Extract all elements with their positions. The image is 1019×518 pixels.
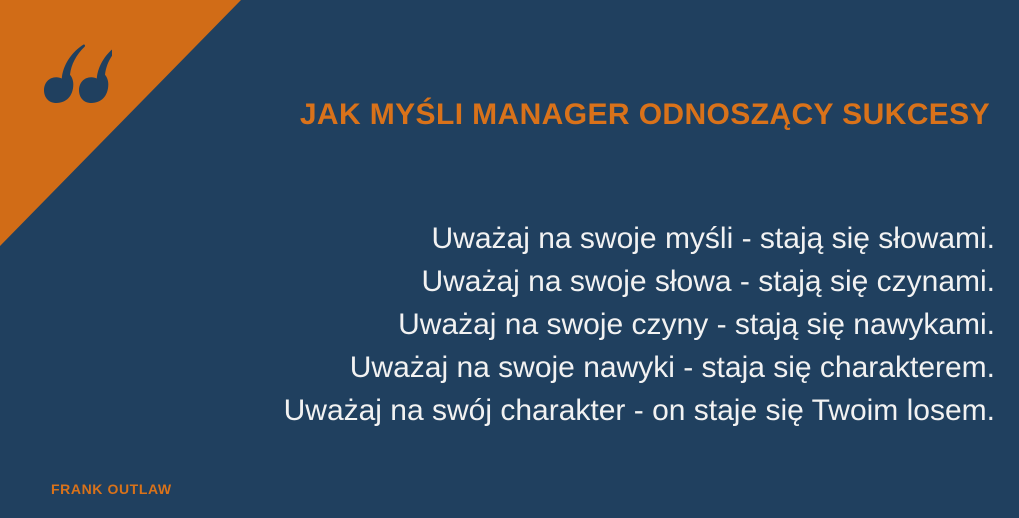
quote-card: JAK MYŚLI MANAGER ODNOSZĄCY SUKCESY Uważ… [0, 0, 1019, 518]
quote-line: Uważaj na swoje słowa - stają się czynam… [10, 260, 995, 303]
quote-line: Uważaj na swoje czyny - stają się nawyka… [10, 303, 995, 346]
quote-line: Uważaj na swój charakter - on staje się … [10, 389, 995, 432]
quote-line: Uważaj na swoje myśli - stają się słowam… [10, 217, 995, 260]
quote-line: Uważaj na swoje nawyki - staja się chara… [10, 346, 995, 389]
quote-text-block: Uważaj na swoje myśli - stają się słowam… [10, 217, 995, 432]
page-title: JAK MYŚLI MANAGER ODNOSZĄCY SUKCESY [190, 96, 990, 134]
quote-author: FRANK OUTLAW [51, 480, 172, 498]
quotation-mark-icon [44, 42, 112, 104]
